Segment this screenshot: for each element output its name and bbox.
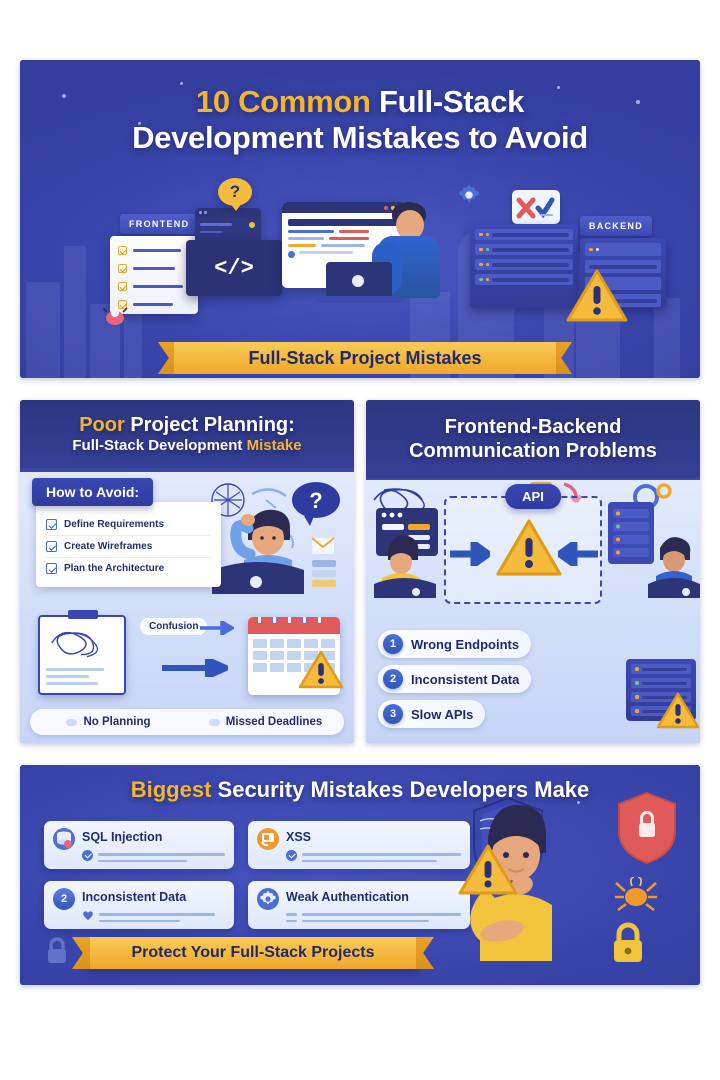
planning-title-highlight: Poor <box>79 414 125 436</box>
ribbon-tail-left <box>158 342 176 374</box>
hero-panel: 10 Common Full-Stack Development Mistake… <box>20 60 700 378</box>
hero-illustration: FRONTEND </> <box>20 178 700 378</box>
script-warning-icon <box>257 828 279 850</box>
list-item[interactable]: 1 Wrong Endpoints <box>378 630 531 658</box>
clipboard-icon <box>38 615 126 695</box>
avoid-item-label: Define Requirements <box>64 519 164 530</box>
svg-text:?: ? <box>309 488 322 513</box>
outcome-missed-deadlines: Missed Deadlines <box>187 716 344 728</box>
list-item[interactable]: 3 Slow APIs <box>378 700 485 728</box>
checklist-card <box>110 236 198 314</box>
avoid-item-label: Create Wireframes <box>64 541 152 552</box>
security-cta-label: Protect Your Full-Stack Projects <box>88 937 418 969</box>
database-bug-icon <box>53 828 75 850</box>
security-card[interactable]: XSS <box>248 821 470 869</box>
check-icon <box>118 282 127 291</box>
backend-developer-avatar <box>604 502 700 602</box>
backend-tag: BACKEND <box>580 216 652 236</box>
number-badge: 3 <box>383 704 403 724</box>
mid-row: Poor Project Planning: Full-Stack Develo… <box>20 400 700 743</box>
infographic-page: 10 Common Full-Stack Development Mistake… <box>0 0 720 1080</box>
security-card-name: XSS <box>286 830 311 844</box>
check-icon <box>286 850 297 861</box>
planning-header: Poor Project Planning: Full-Stack Develo… <box>20 400 354 468</box>
communication-body: API <box>366 480 700 743</box>
frontend-tag: FRONTEND <box>120 214 198 234</box>
security-card-name: SQL Injection <box>82 830 162 844</box>
planning-outcome-bar: No Planning Missed Deadlines <box>30 709 344 735</box>
arrow-right-icon <box>162 659 228 677</box>
bullet-icon <box>66 719 77 726</box>
check-icon <box>118 264 127 273</box>
warning-triangle-icon <box>458 843 518 897</box>
security-title: Biggest Security Mistakes Developers Mak… <box>20 765 700 803</box>
hero-ribbon: Full-Stack Project Mistakes <box>174 342 556 374</box>
arrow-right-icon <box>200 621 234 635</box>
check-cross-card-icon <box>512 190 560 224</box>
security-card-name: Inconsistent Data <box>82 890 186 904</box>
security-card-grid: SQL Injection XSS <box>44 821 470 929</box>
security-card-name: Weak Authentication <box>286 890 409 904</box>
panel-poor-planning: Poor Project Planning: Full-Stack Develo… <box>20 400 354 743</box>
checkbox-icon[interactable] <box>46 563 57 574</box>
heart-icon <box>82 910 94 921</box>
number-badge: 2 <box>383 669 403 689</box>
planning-subtitle-pre: Full-Stack Development <box>72 437 242 454</box>
title-line2: Development Mistakes to Avoid <box>20 120 700 156</box>
checkbox-icon[interactable] <box>46 519 57 530</box>
padlock-icon <box>608 920 648 969</box>
title-rest: Full-Stack <box>379 84 524 119</box>
ribbon-tail-right <box>554 342 572 374</box>
communication-issue-list: 1 Wrong Endpoints 2 Inconsistent Data 3 … <box>378 630 603 735</box>
list-item-label: Wrong Endpoints <box>411 637 519 652</box>
warning-triangle-icon <box>566 268 628 324</box>
avoid-item[interactable]: Plan the Architecture <box>46 558 211 579</box>
laptop-icon <box>316 262 402 306</box>
check-icon <box>82 850 93 861</box>
arrow-right-icon <box>450 542 490 566</box>
security-card[interactable]: Weak Authentication <box>248 881 470 929</box>
arrow-left-icon <box>558 542 598 566</box>
communication-title-line1: Frontend-Backend <box>376 415 690 439</box>
warning-triangle-icon <box>656 691 700 731</box>
scribble-icon <box>46 625 118 659</box>
security-card[interactable]: SQL Injection <box>44 821 234 869</box>
number-badge-2-icon: 2 <box>53 888 75 910</box>
api-badge: API <box>505 484 561 509</box>
panel-communication: Frontend-Backend Communication Problems <box>366 400 700 743</box>
security-cta-ribbon: Protect Your Full-Stack Projects <box>88 937 418 969</box>
checkbox-icon[interactable] <box>46 541 57 552</box>
warning-triangle-icon <box>496 518 562 578</box>
avoid-item[interactable]: Create Wireframes <box>46 536 211 558</box>
gear-icon <box>456 182 482 208</box>
bug-icon <box>614 877 658 911</box>
confusion-flow-label: Confusion <box>140 618 207 635</box>
avoid-item[interactable]: Define Requirements <box>46 514 211 536</box>
outcome-no-planning: No Planning <box>30 716 187 728</box>
avoid-checklist-card: Define Requirements Create Wireframes Pl… <box>36 502 221 587</box>
security-card[interactable]: 2 Inconsistent Data <box>44 881 234 929</box>
outcome-right-label: Missed Deadlines <box>226 716 323 728</box>
planning-title-rest: Project Planning: <box>130 414 294 436</box>
question-bubble-icon: ? <box>218 178 252 206</box>
gear-icon <box>257 888 279 910</box>
frontend-developer-avatar <box>368 508 442 598</box>
outcome-left-label: No Planning <box>83 716 150 728</box>
list-item-label: Inconsistent Data <box>411 672 519 687</box>
bullet-icon <box>209 719 220 726</box>
how-to-avoid-label: How to Avoid: <box>32 478 153 506</box>
communication-header: Frontend-Backend Communication Problems <box>366 400 700 478</box>
number-badge: 1 <box>383 634 403 654</box>
padlock-icon <box>44 936 70 971</box>
page-title: 10 Common Full-Stack Development Mistake… <box>20 60 700 156</box>
communication-title-line2: Communication Problems <box>376 439 690 463</box>
server-rack-icon <box>470 224 578 308</box>
hero-ribbon-label: Full-Stack Project Mistakes <box>174 342 556 374</box>
panel-security: Biggest Security Mistakes Developers Mak… <box>20 765 700 985</box>
avoid-item-label: Plan the Architecture <box>64 563 164 574</box>
list-item[interactable]: 2 Inconsistent Data <box>378 665 531 693</box>
planning-body: ? <box>20 472 354 743</box>
code-window: </> <box>186 240 282 296</box>
planning-subtitle-highlight: Mistake <box>247 437 302 454</box>
check-icon <box>118 246 127 255</box>
title-highlight: 10 Common <box>196 84 371 119</box>
list-item-label: Slow APIs <box>411 707 473 722</box>
warning-triangle-icon <box>298 649 344 691</box>
confused-developer-avatar: ? <box>208 478 348 594</box>
bug-icon <box>102 306 128 326</box>
security-title-highlight: Biggest <box>131 777 212 802</box>
